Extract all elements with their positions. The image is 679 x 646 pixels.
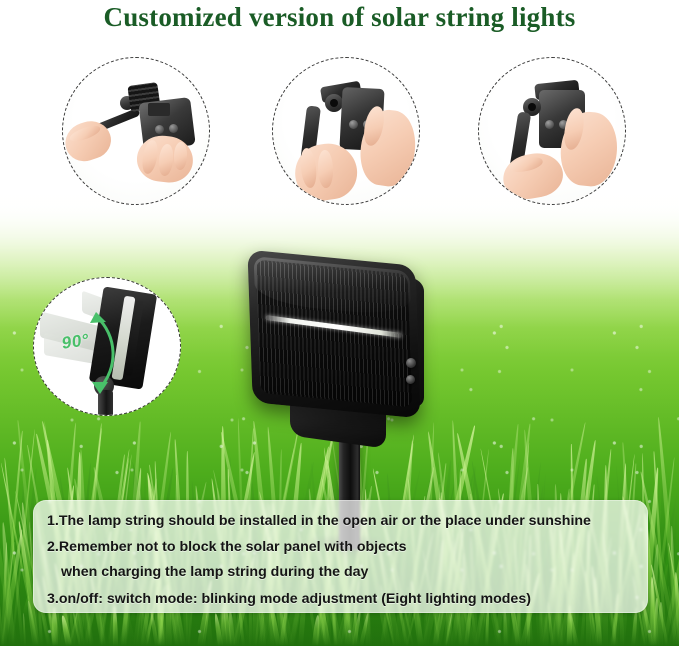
instruction-item: 3.on/off: switch mode: blinking mode adj… [47, 592, 648, 606]
instruction-item-continued: when charging the lamp string during the… [61, 565, 648, 579]
instructions-list: 1.The lamp string should be installed in… [33, 514, 648, 606]
instructions-panel: 1.The lamp string should be installed in… [33, 500, 648, 613]
mode-button [406, 375, 415, 384]
page-title: Customized version of solar string light… [0, 2, 679, 33]
instruction-item: 1.The lamp string should be installed in… [47, 514, 648, 528]
angle-callout-circle: 90° [33, 277, 181, 416]
rotation-arrow-icon [34, 278, 181, 416]
step-circle-1 [62, 57, 210, 205]
panel-button-a [545, 120, 554, 129]
instruction-item: 2.Remember not to block the solar panel … [47, 540, 648, 554]
infographic-canvas: Customized version of solar string light… [0, 0, 679, 646]
panel-slot [148, 103, 170, 116]
step-circle-2 [272, 57, 420, 205]
solar-panel-face [247, 250, 420, 419]
panel-button-a [349, 120, 358, 129]
hinge-pin [330, 99, 338, 107]
step-circle-3 [478, 57, 626, 205]
product-solar-panel-stake [230, 248, 440, 538]
panel-button-b [169, 124, 178, 133]
power-button [406, 358, 416, 368]
panel-button-a [155, 125, 164, 134]
hinge-pin [528, 103, 536, 111]
angle-label: 90° [62, 330, 89, 354]
